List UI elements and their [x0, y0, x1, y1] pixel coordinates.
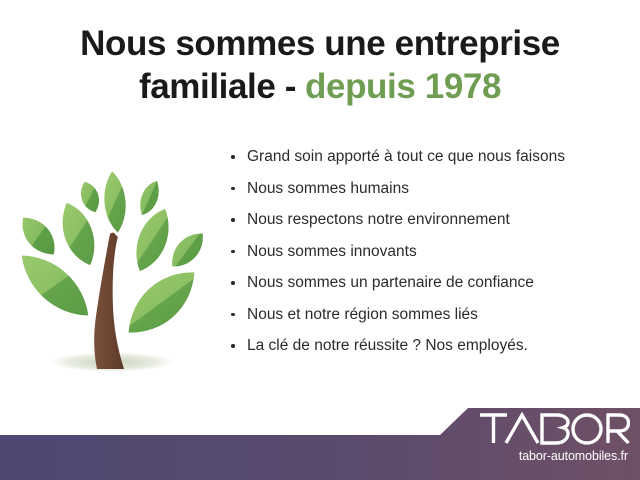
brand-logo[interactable]: tabor-automobiles.fr	[478, 412, 638, 474]
leaf-center-top	[103, 169, 127, 235]
leaf-lower-left-large	[20, 254, 90, 317]
logo-tagline: tabor-automobiles.fr	[478, 449, 628, 463]
leaf-left-small	[21, 216, 56, 256]
list-item: Nous respectons notre environnement	[228, 210, 628, 229]
leaf-right-small	[171, 232, 205, 268]
tabor-wordmark-icon	[478, 412, 630, 446]
tree-illustration	[8, 150, 223, 390]
list-item: Grand soin apporté à tout ce que nous fa…	[228, 147, 628, 166]
leaf-lower-right-large	[127, 271, 196, 334]
benefits-list: Grand soin apporté à tout ce que nous fa…	[228, 147, 628, 368]
page-title-accent: depuis 1978	[305, 67, 501, 106]
list-item: Nous sommes innovants	[228, 242, 628, 261]
tree-trunk	[94, 233, 124, 369]
list-item: Nous sommes humains	[228, 179, 628, 198]
page-title-line-2-plain: familiale -	[139, 67, 296, 106]
page-title-line-2: familiale -depuis 1978	[0, 65, 640, 108]
leaf-upper-left-small	[80, 180, 101, 214]
list-item: Nous et notre région sommes liés	[228, 305, 628, 324]
page-title-line-1: Nous sommes une entreprise	[0, 22, 640, 65]
list-item: La clé de notre réussite ? Nos employés.	[228, 336, 628, 355]
list-item: Nous sommes un partenaire de confiance	[228, 273, 628, 292]
tree-illustration-graphic	[8, 150, 223, 390]
page-title: Nous sommes une entreprise familiale -de…	[0, 22, 640, 108]
slide-canvas: Nous sommes une entreprise familiale -de…	[0, 0, 640, 480]
